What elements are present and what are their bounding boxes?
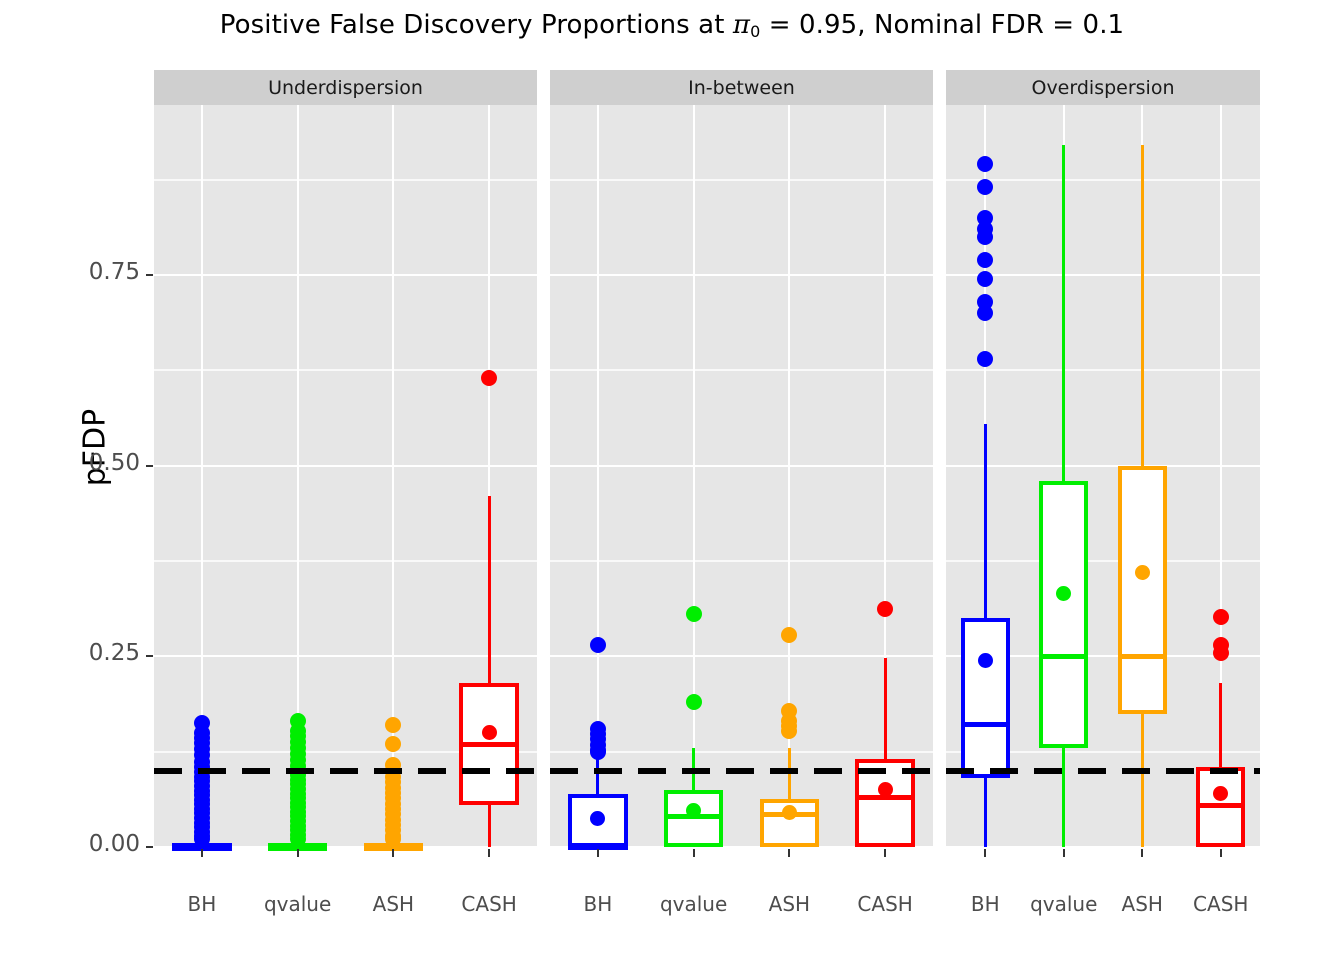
- mean-point: [978, 653, 993, 668]
- x-tick-mark: [597, 849, 599, 857]
- whisker-upper: [1141, 145, 1144, 465]
- y-tick-mark: [146, 465, 153, 467]
- outlier-point: [977, 351, 993, 367]
- y-tick-mark: [146, 846, 153, 848]
- whisker-upper: [488, 496, 491, 683]
- panel-strip-label: Underdispersion: [268, 77, 423, 99]
- gridline-major: [550, 465, 933, 467]
- y-tick-label: 0.00: [60, 831, 140, 857]
- x-tick-mark: [984, 849, 986, 857]
- mean-point: [1135, 565, 1150, 580]
- x-tick-mark: [1220, 849, 1222, 857]
- gridline-minor: [154, 560, 537, 562]
- x-tick-mark: [884, 849, 886, 857]
- outlier-point: [590, 744, 606, 760]
- x-tick-mark: [788, 849, 790, 857]
- y-tick-mark: [146, 655, 153, 657]
- pi-symbol: π: [733, 10, 750, 40]
- outlier-point: [385, 736, 401, 752]
- median-line: [961, 722, 1010, 727]
- y-tick-label: 0.50: [60, 450, 140, 476]
- gridline-minor: [550, 179, 933, 181]
- panel-strip-underdispersion: Underdispersion: [154, 70, 537, 105]
- outlier-point: [590, 637, 606, 653]
- whisker-lower: [984, 778, 987, 847]
- box-bh: [961, 618, 1010, 778]
- box-qvalue: [1039, 481, 1088, 748]
- chart-root: Positive False Discovery Proportions at …: [0, 0, 1344, 960]
- whisker-upper: [984, 424, 987, 618]
- outlier-point: [977, 156, 993, 172]
- reference-line-fdr: [946, 768, 1260, 774]
- whisker-lower: [1141, 714, 1144, 847]
- gridline-major: [946, 465, 1260, 467]
- mean-point: [686, 803, 701, 818]
- panel-in-between: [550, 105, 933, 847]
- outlier-point: [1213, 609, 1229, 625]
- median-line: [1196, 803, 1245, 808]
- x-tick-mark: [201, 849, 203, 857]
- gridline-major: [550, 655, 933, 657]
- gridline-minor: [154, 369, 537, 371]
- whisker-upper: [596, 757, 599, 794]
- gridline-vertical: [693, 105, 695, 847]
- x-tick-mark: [392, 849, 394, 857]
- whisker-upper: [884, 658, 887, 759]
- pi-subscript: 0: [750, 22, 760, 41]
- median-line: [459, 742, 518, 747]
- mean-point: [482, 725, 497, 740]
- gridline-major: [550, 274, 933, 276]
- panel-strip-in-between: In-between: [550, 70, 933, 105]
- x-tick-mark: [297, 849, 299, 857]
- whisker-upper: [1062, 145, 1065, 481]
- outlier-point: [977, 229, 993, 245]
- y-tick-label: 0.75: [60, 259, 140, 285]
- whisker-upper: [1219, 683, 1222, 767]
- x-tick-mark: [488, 849, 490, 857]
- mean-point: [782, 805, 797, 820]
- outlier-point: [977, 179, 993, 195]
- outlier-point: [290, 831, 306, 847]
- x-tick-label-cash: CASH: [429, 892, 549, 916]
- reference-line-fdr: [154, 768, 537, 774]
- reference-line-fdr: [550, 768, 933, 774]
- outlier-point: [385, 717, 401, 733]
- whisker-lower: [488, 805, 491, 847]
- median-line: [1118, 654, 1167, 659]
- outlier-point: [977, 252, 993, 268]
- y-tick-label: 0.25: [60, 640, 140, 666]
- gridline-minor: [550, 560, 933, 562]
- title-prefix: Positive False Discovery Proportions at: [220, 10, 733, 40]
- x-tick-label-cash: CASH: [1161, 892, 1281, 916]
- gridline-major: [154, 465, 537, 467]
- panel-strip-overdispersion: Overdispersion: [946, 70, 1260, 105]
- gridline-major: [946, 274, 1260, 276]
- panel-underdispersion: [154, 105, 537, 847]
- mean-point: [878, 782, 893, 797]
- outlier-point: [481, 370, 497, 386]
- gridline-minor: [550, 751, 933, 753]
- gridline-minor: [154, 179, 537, 181]
- title-middle: = 0.95, Nominal FDR = 0.1: [760, 10, 1124, 40]
- gridline-major: [154, 655, 537, 657]
- outlier-point: [686, 606, 702, 622]
- x-tick-mark: [1063, 849, 1065, 857]
- outlier-point: [1213, 645, 1229, 661]
- outlier-point: [781, 627, 797, 643]
- y-tick-mark: [146, 274, 153, 276]
- gridline-minor: [946, 179, 1260, 181]
- gridline-major: [154, 274, 537, 276]
- gridline-minor: [946, 369, 1260, 371]
- panel-strip-label: Overdispersion: [1031, 77, 1174, 99]
- gridline-minor: [550, 369, 933, 371]
- x-tick-mark: [1141, 849, 1143, 857]
- outlier-point: [781, 723, 797, 739]
- panel-strip-label: In-between: [688, 77, 795, 99]
- panel-overdispersion: [946, 105, 1260, 847]
- x-tick-mark: [693, 849, 695, 857]
- outlier-point: [977, 271, 993, 287]
- y-axis-label: pFDP: [78, 348, 113, 548]
- outlier-point: [686, 694, 702, 710]
- whisker-lower: [1062, 748, 1065, 847]
- median-line: [1039, 654, 1088, 659]
- chart-title: Positive False Discovery Proportions at …: [0, 10, 1344, 41]
- outlier-point: [877, 601, 893, 617]
- gridline-minor: [946, 560, 1260, 562]
- box-ash: [1118, 466, 1167, 714]
- outlier-point: [977, 305, 993, 321]
